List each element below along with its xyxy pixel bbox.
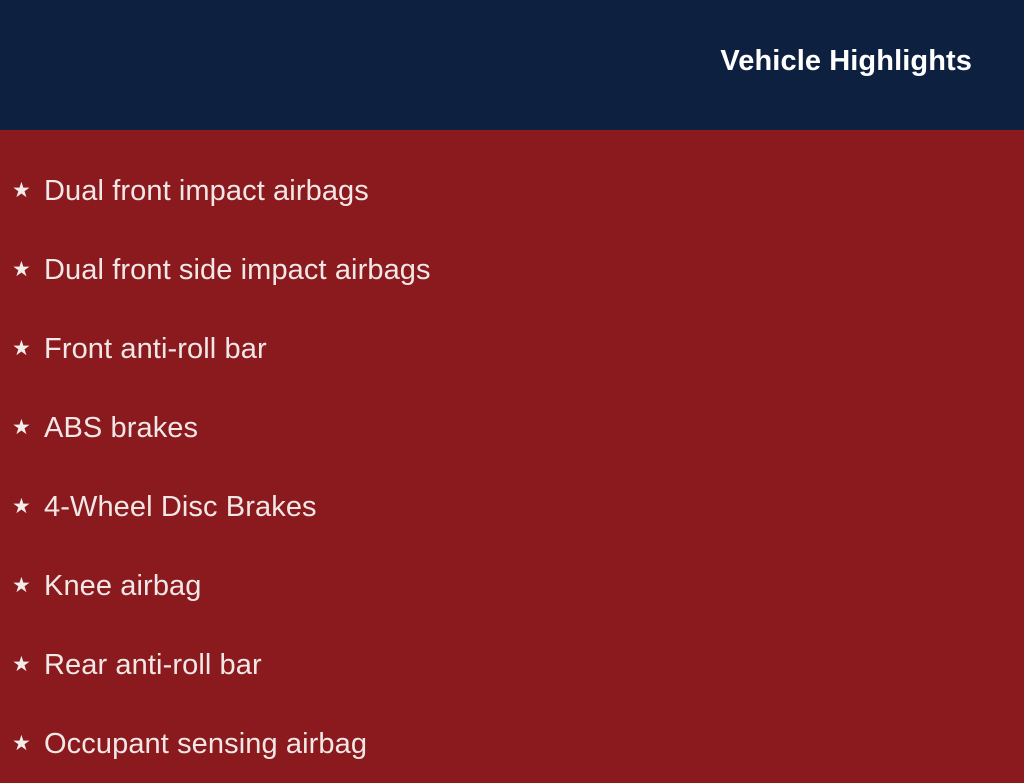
slide-body: ★ Dual front impact airbags ★ Dual front…: [0, 130, 1024, 768]
list-item: ★ 4-Wheel Disc Brakes: [0, 467, 1024, 546]
list-item: ★ Rear anti-roll bar: [0, 625, 1024, 704]
feature-label: Dual front impact airbags: [44, 174, 369, 208]
star-bullet-icon: ★: [12, 417, 44, 438]
page-title: Vehicle Highlights: [720, 44, 972, 78]
list-item: ★ ABS brakes: [0, 388, 1024, 467]
star-bullet-icon: ★: [12, 654, 44, 675]
feature-label: Occupant sensing airbag: [44, 727, 367, 761]
list-item: ★ Dual front impact airbags: [0, 151, 1024, 230]
feature-label: Front anti-roll bar: [44, 332, 267, 366]
star-bullet-icon: ★: [12, 259, 44, 280]
list-item: ★ Occupant sensing airbag: [0, 704, 1024, 783]
vehicle-highlights-slide: Vehicle Highlights ★ Dual front impact a…: [0, 0, 1024, 768]
feature-label: 4-Wheel Disc Brakes: [44, 490, 317, 524]
star-bullet-icon: ★: [12, 496, 44, 517]
slide-header: Vehicle Highlights: [0, 0, 1024, 130]
star-bullet-icon: ★: [12, 575, 44, 596]
feature-label: Dual front side impact airbags: [44, 253, 431, 287]
feature-label: Rear anti-roll bar: [44, 648, 262, 682]
list-item: ★ Front anti-roll bar: [0, 309, 1024, 388]
list-item: ★ Knee airbag: [0, 546, 1024, 625]
star-bullet-icon: ★: [12, 338, 44, 359]
feature-label: Knee airbag: [44, 569, 202, 603]
star-bullet-icon: ★: [12, 180, 44, 201]
vehicle-feature-list: ★ Dual front impact airbags ★ Dual front…: [0, 130, 1024, 783]
list-item: ★ Dual front side impact airbags: [0, 230, 1024, 309]
feature-label: ABS brakes: [44, 411, 198, 445]
star-bullet-icon: ★: [12, 733, 44, 754]
